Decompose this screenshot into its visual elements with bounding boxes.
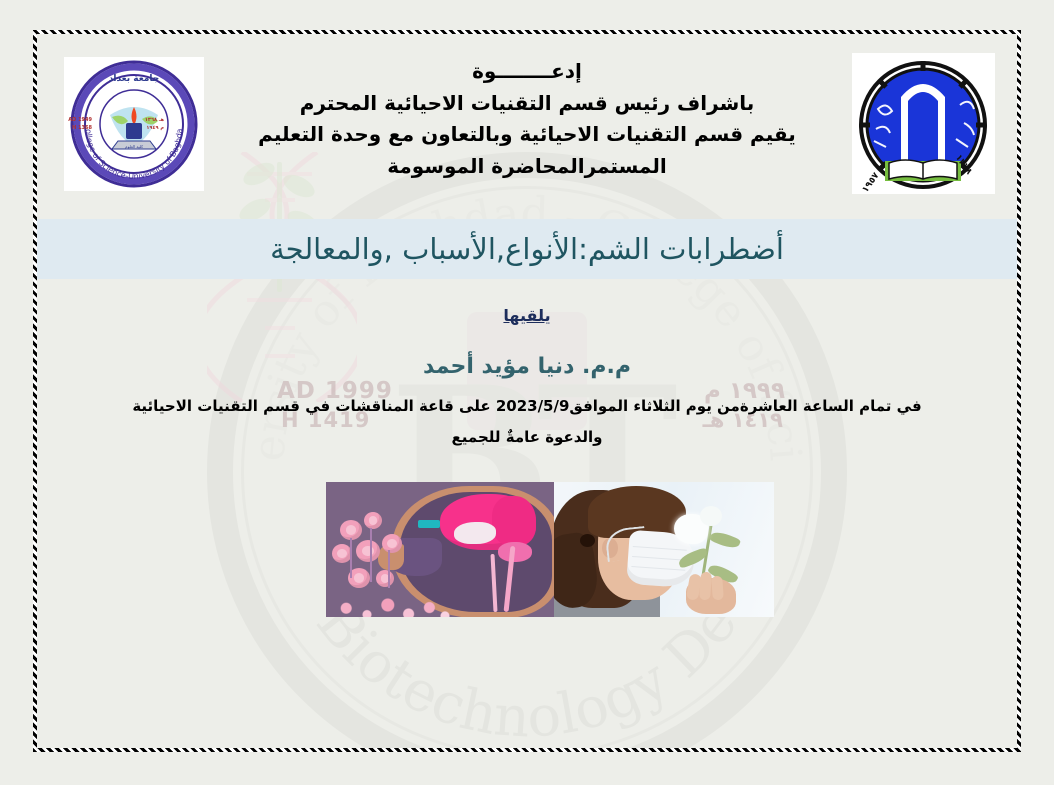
header-line-invitation: إدعــــــــوة — [37, 56, 1017, 88]
rose-stem-shape — [388, 550, 390, 588]
rose-shape — [356, 540, 380, 562]
rose-shape — [332, 544, 352, 563]
presented-by-label: يلقيها — [37, 306, 1017, 325]
rose-shape — [340, 520, 362, 540]
hair-tie-shape — [580, 534, 595, 547]
header-line-lecture: المستمرالمحاضرة الموسومة — [37, 151, 1017, 183]
rose-stem-shape — [370, 528, 372, 582]
white-flower-bud — [700, 506, 722, 526]
header-text-block: إدعــــــــوة باشراف رئيس قسم التقنيات ا… — [37, 56, 1017, 182]
event-details-block: في تمام الساعة العاشرةمن يوم الثلاثاء ال… — [97, 392, 957, 451]
decorative-page-frame: Biotechnology De University of Baghdad -… — [33, 30, 1021, 752]
rose-shape — [382, 534, 402, 553]
flower-leaf-shape — [709, 529, 741, 551]
poster-page: Biotechnology De University of Baghdad -… — [0, 0, 1054, 785]
event-time-venue-line: في تمام الساعة العاشرةمن يوم الثلاثاء ال… — [97, 392, 957, 421]
cerebellum-shape — [498, 542, 532, 562]
rose-shape — [376, 570, 394, 587]
photo-strip — [326, 482, 774, 617]
olfactory-bulb-marker — [418, 520, 440, 528]
lecture-title-banner: أضطرابات الشم:الأنواع,الأسباب ,والمعالجة — [37, 219, 1017, 279]
header-line-supervision: باشراف رئيس قسم التقنيات الاحيائية المحت… — [37, 88, 1017, 120]
header-line-organizer: يقيم قسم التقنيات الاحيائية وبالتعاون مع… — [37, 119, 1017, 151]
scattered-petals — [328, 589, 458, 617]
finger-shape — [699, 572, 712, 601]
corpus-callosum-shape — [454, 522, 496, 544]
finger-shape — [711, 576, 724, 601]
rose-stem-shape — [350, 538, 352, 578]
rose-shape — [364, 512, 382, 529]
photo-woman-smelling-flower — [554, 482, 774, 617]
open-invitation-line: والدعوة عامةٌ للجميع — [97, 423, 957, 452]
lecture-title: أضطرابات الشم:الأنواع,الأسباب ,والمعالجة — [270, 232, 784, 266]
speaker-name: م.م. دنيا مؤيد أحمد — [37, 354, 1017, 379]
brain-hemisphere-shape — [492, 496, 536, 546]
photo-head-anatomy-roses — [326, 482, 554, 617]
poster-canvas: Biotechnology De University of Baghdad -… — [37, 34, 1017, 748]
